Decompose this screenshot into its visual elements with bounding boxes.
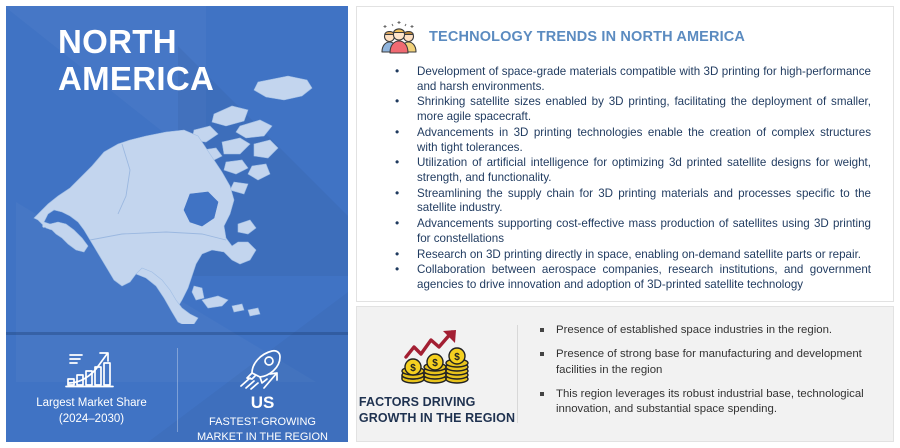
stat-headline: US [177,394,348,413]
infographic-root: NORTH AMERICA [0,0,900,448]
list-item: Advancements supporting cost-effective m… [391,217,871,246]
north-america-map-icon [26,74,336,324]
svg-text:$: $ [410,363,416,374]
trends-header: TECHNOLOGY TRENDS IN NORTH AMERICA [357,7,893,55]
list-item: Presence of established space industries… [540,323,879,338]
list-item: This region leverages its robust industr… [540,387,879,418]
svg-text:$: $ [454,352,460,363]
rocket-launch-icon [177,346,348,392]
stat-divider [177,348,178,432]
money-growth-icon: $ $ $ [400,327,474,385]
bar-chart-growth-icon [6,346,177,392]
list-item: Collaboration between aerospace companie… [391,263,871,292]
region-title: NORTH AMERICA [58,24,214,98]
list-item: Advancements in 3D printing technologies… [391,126,871,155]
region-panel: NORTH AMERICA [6,6,348,442]
growth-factors-heading: FACTORS DRIVING GROWTH IN THE REGION [359,394,515,426]
panel-divider [6,332,348,335]
list-item: Shrinking satellite sizes enabled by 3D … [391,95,871,124]
stat-fastest-growing-market: US FASTEST-GROWING MARKET IN THE REGION [177,338,348,442]
stat-largest-market-share: Largest Market Share (2024–2030) [6,338,177,427]
growth-factors-heading-block: $ $ $ [357,307,517,441]
trends-list: Development of space-grade materials com… [357,65,893,293]
people-group-icon [379,19,419,55]
list-item: Streamlining the supply chain for 3D pri… [391,187,871,216]
growth-factors-list: Presence of established space industries… [540,323,879,417]
list-item: Development of space-grade materials com… [391,65,871,94]
trends-title: TECHNOLOGY TRENDS IN NORTH AMERICA [429,29,745,45]
technology-trends-panel: TECHNOLOGY TRENDS IN NORTH AMERICA Devel… [356,6,894,302]
stat-label: Largest Market Share (2024–2030) [6,396,177,427]
svg-text:$: $ [432,358,438,369]
stat-sublabel: FASTEST-GROWING MARKET IN THE REGION [177,415,348,442]
list-item: Presence of strong base for manufacturin… [540,347,879,378]
growth-factors-panel: $ $ $ [356,306,894,442]
list-item: Research on 3D printing directly in spac… [391,248,871,263]
growth-factors-list-block: Presence of established space industries… [518,307,893,441]
list-item: Utilization of artificial intelligence f… [391,156,871,185]
